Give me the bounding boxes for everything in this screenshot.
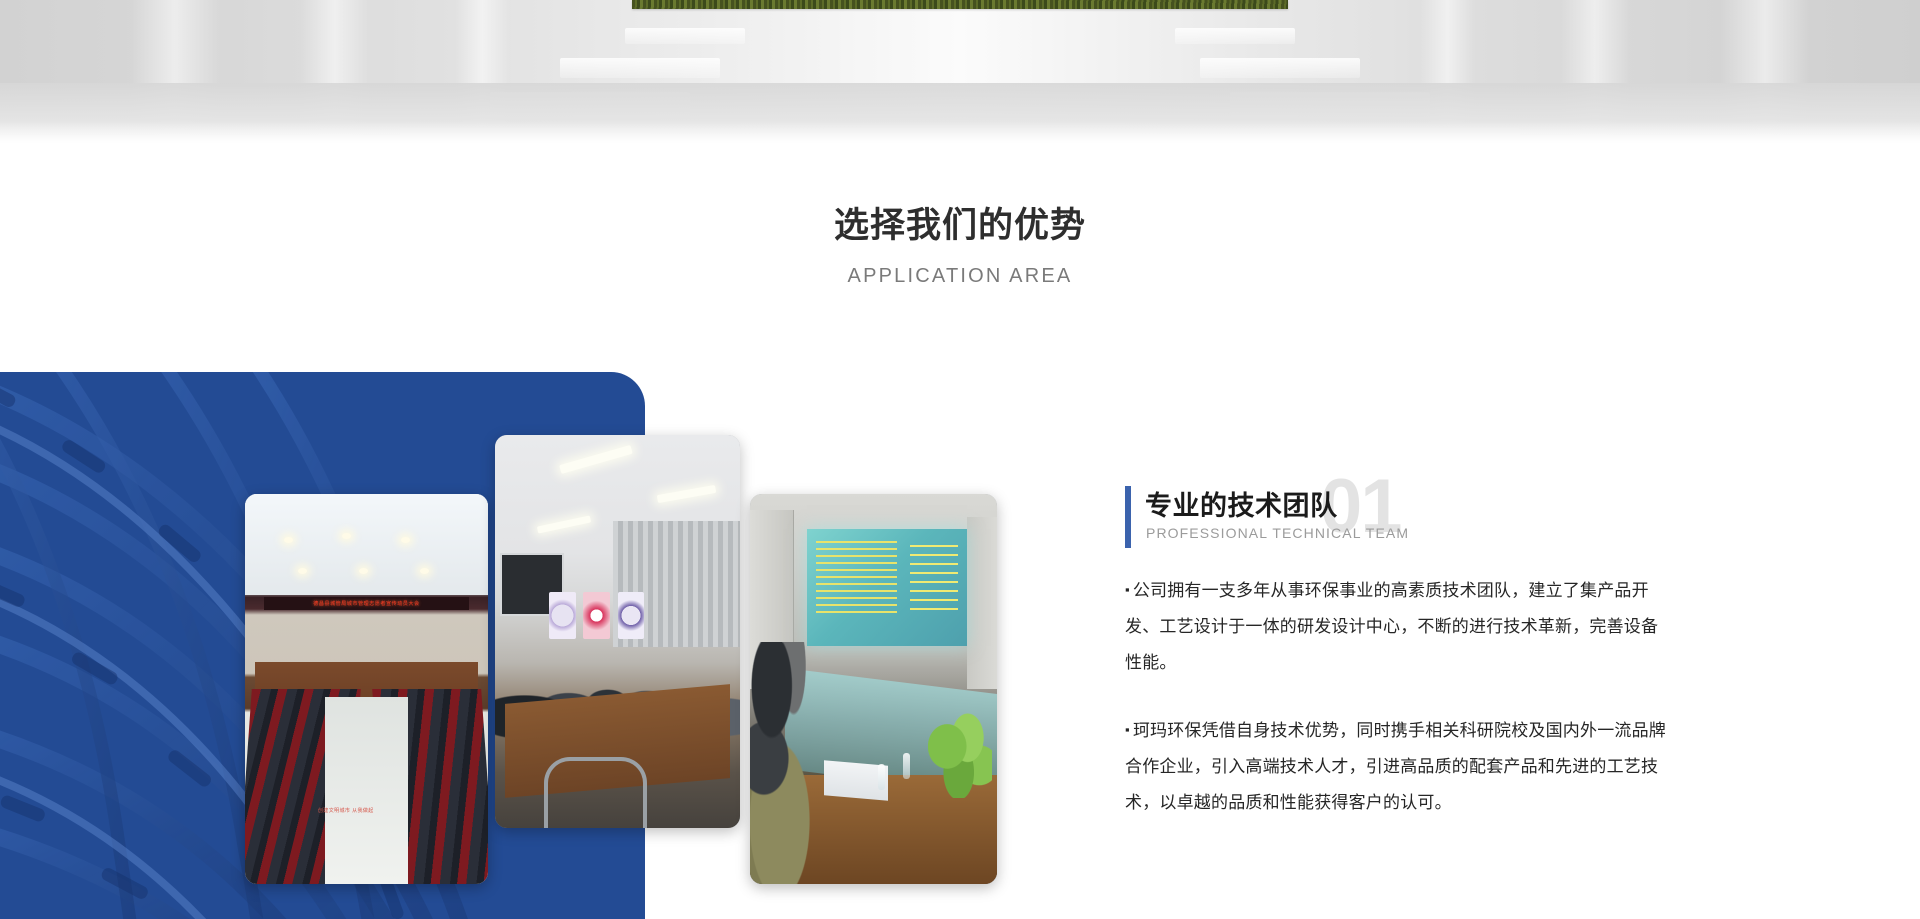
banner-slab (1175, 28, 1295, 44)
bullet-icon: ▪ (1125, 582, 1130, 597)
banner-slab (1200, 58, 1360, 78)
feature-paragraph-text: 公司拥有一支多年从事环保事业的高素质技术团队，建立了集产品开发、工艺设计于一体的… (1125, 581, 1658, 672)
accent-bar (1125, 486, 1131, 548)
ceiling-lamp-icon (284, 537, 293, 543)
gallery-photo-projector-room[interactable] (750, 494, 997, 884)
gallery-photo-meeting-room[interactable] (495, 435, 740, 828)
bullet-icon: ▪ (1125, 722, 1130, 737)
led-banner-text: 德昌县城管局城市管理志愿者宣传动员大会 (313, 600, 419, 607)
photo-content (750, 494, 997, 884)
hero-banner (0, 0, 1920, 143)
feature-subtitle: PROFESSIONAL TECHNICAL TEAM (1146, 525, 1409, 541)
light-tube-icon (559, 445, 632, 474)
floor-slogan-text: 创建文明城市 从我做起 (318, 807, 374, 814)
feature-header: 01 专业的技术团队 PROFESSIONAL TECHNICAL TEAM (1125, 484, 1785, 556)
light-tube-icon (536, 516, 590, 534)
feature-paragraph: ▪公司拥有一支多年从事环保事业的高素质技术团队，建立了集产品开发、工艺设计于一体… (1125, 572, 1670, 681)
banner-slab (625, 28, 745, 44)
projector-screen (807, 529, 968, 646)
led-banner: 德昌县城管局城市管理志愿者宣传动员大会 (264, 597, 468, 610)
potted-plant-icon (928, 712, 992, 798)
feature-content: 01 专业的技术团队 PROFESSIONAL TECHNICAL TEAM ▪… (1125, 484, 1785, 821)
banner-slab (560, 58, 720, 78)
page-title: 选择我们的优势 (0, 205, 1920, 247)
ceiling-lamp-icon (401, 537, 410, 543)
banner-bottom-fade (0, 121, 1920, 143)
page-subtitle: APPLICATION AREA (0, 265, 1920, 288)
center-aisle (325, 697, 408, 884)
water-bottle-icon (878, 764, 885, 790)
feature-title: 专业的技术团队 (1145, 484, 1338, 523)
water-bottle-icon (903, 753, 910, 779)
gallery-photo-auditorium[interactable]: 德昌县城管局城市管理志愿者宣传动员大会 创建文明城市 从我做起 (245, 494, 488, 884)
feature-paragraph: ▪珂玛环保凭借自身技术优势，同时携手相关科研院校及国内外一流品牌合作企业，引入高… (1125, 712, 1670, 821)
wall-cabinet (967, 517, 997, 689)
chair-icon (544, 757, 647, 828)
section-heading: 选择我们的优势 APPLICATION AREA (0, 205, 1920, 288)
grass-strip-icon (632, 0, 1288, 9)
ceiling (245, 494, 488, 595)
photo-content (495, 435, 740, 828)
feature-paragraph-text: 珂玛环保凭借自身技术优势，同时携手相关科研院校及国内外一流品牌合作企业，引入高端… (1125, 721, 1666, 812)
photo-content: 德昌县城管局城市管理志愿者宣传动员大会 创建文明城市 从我做起 (245, 494, 488, 884)
light-tube-icon (656, 485, 715, 503)
page-root: 选择我们的优势 APPLICATION AREA (0, 0, 1920, 919)
